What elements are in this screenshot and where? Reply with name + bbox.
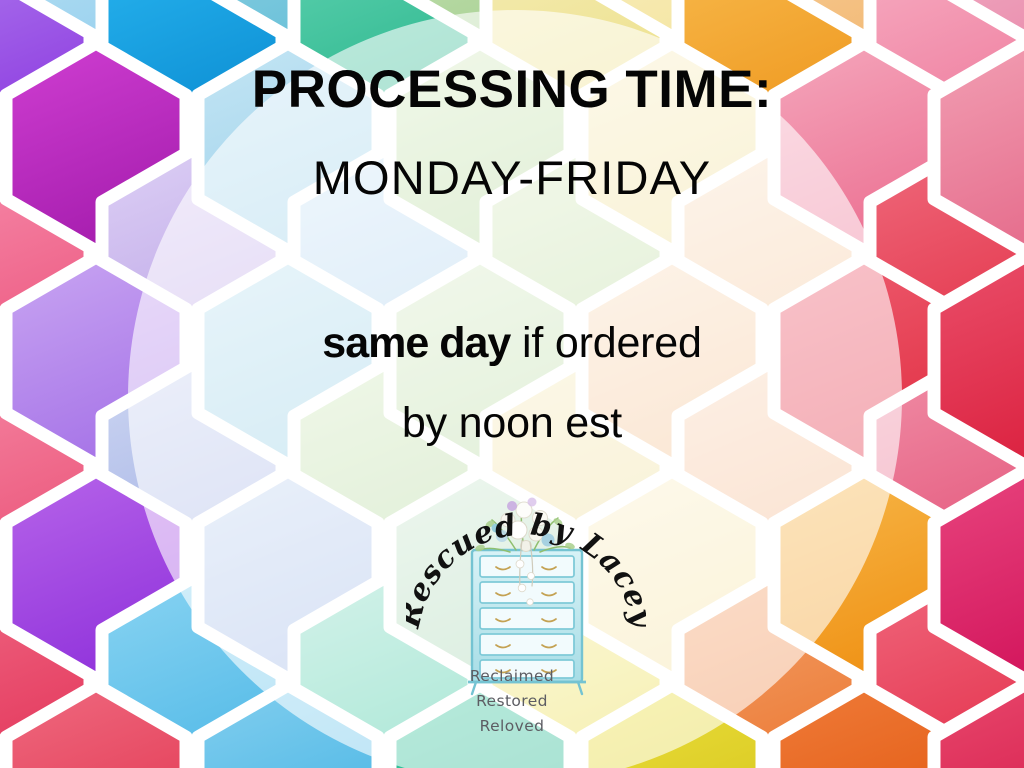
tagline-line-3: Reloved bbox=[0, 719, 1024, 735]
body-line-1-rest: if ordered bbox=[510, 319, 701, 367]
body-emphasis: same day bbox=[322, 319, 510, 367]
tagline-line-2: Restored bbox=[0, 694, 1024, 710]
tagline-line-1: Reclaimed bbox=[0, 669, 1024, 685]
page-title: PROCESSING TIME: bbox=[0, 63, 1024, 117]
body-line-1: same day if ordered bbox=[0, 322, 1024, 366]
poster-canvas: PROCESSING TIME: MONDAY-FRIDAY same day … bbox=[0, 0, 1024, 768]
subtitle-weekdays: MONDAY-FRIDAY bbox=[0, 154, 1024, 202]
body-line-2: by noon est bbox=[0, 402, 1024, 446]
